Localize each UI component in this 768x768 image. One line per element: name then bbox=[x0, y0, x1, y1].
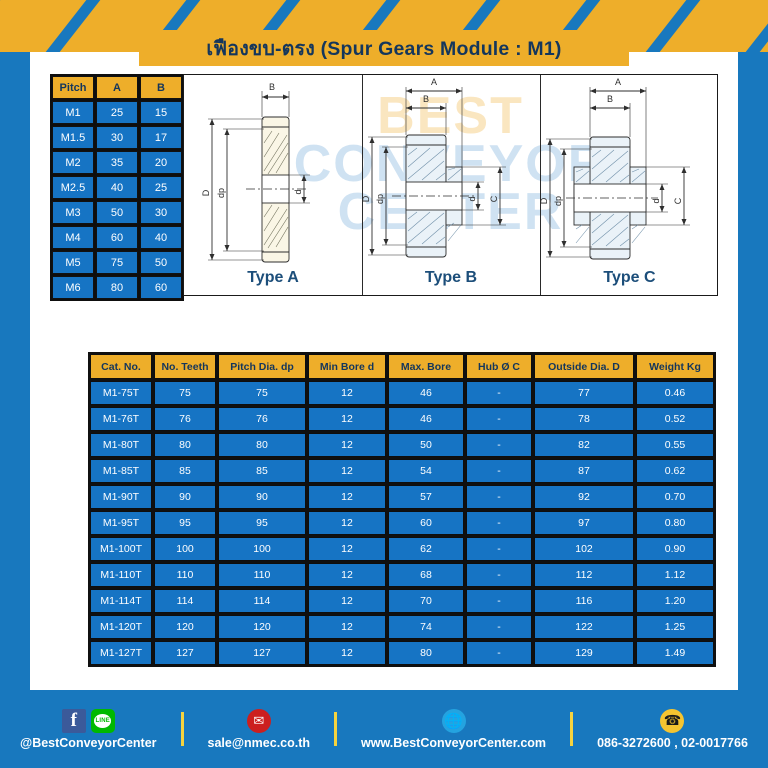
catalog-number-cell: M1-114T bbox=[90, 589, 152, 613]
spec-value-cell: 76 bbox=[154, 407, 216, 431]
spec-table-wrap: Cat. No.No. TeethPitch Dia. dpMin Bore d… bbox=[88, 352, 716, 667]
spec-value-cell: 120 bbox=[218, 615, 306, 639]
spec-value-cell: 82 bbox=[534, 433, 634, 457]
spec-value-cell: 80 bbox=[388, 641, 464, 665]
spec-value-cell: 87 bbox=[534, 459, 634, 483]
pitch-value-cell: 50 bbox=[140, 251, 182, 274]
pitch-header-2: B bbox=[140, 76, 182, 99]
spec-value-cell: 12 bbox=[308, 433, 386, 457]
dim-label-b: B bbox=[423, 94, 429, 104]
pitch-row: M1.53017 bbox=[52, 126, 182, 149]
diagram-type-a: B D dp d Type A bbox=[184, 75, 362, 295]
catalog-number-cell: M1-85T bbox=[90, 459, 152, 483]
pitch-name-cell: M2 bbox=[52, 151, 94, 174]
spec-value-cell: 12 bbox=[308, 589, 386, 613]
spec-value-cell: 1.20 bbox=[636, 589, 714, 613]
spec-value-cell: 116 bbox=[534, 589, 634, 613]
pitch-row: M68060 bbox=[52, 276, 182, 299]
page-title: เฟืองขบ-ตรง (Spur Gears Module : M1) bbox=[206, 33, 561, 64]
spec-value-cell: 74 bbox=[388, 615, 464, 639]
footer-divider-1 bbox=[181, 712, 184, 746]
pitch-header-1: A bbox=[96, 76, 138, 99]
table-row: M1-127T1271271280-1291.49 bbox=[90, 641, 714, 665]
spec-value-cell: 0.62 bbox=[636, 459, 714, 483]
spec-value-cell: 127 bbox=[154, 641, 216, 665]
table-row: M1-76T76761246-780.52 bbox=[90, 407, 714, 431]
catalog-number-cell: M1-76T bbox=[90, 407, 152, 431]
table-row: M1-85T85851254-870.62 bbox=[90, 459, 714, 483]
spec-value-cell: 54 bbox=[388, 459, 464, 483]
pitch-value-cell: 25 bbox=[140, 176, 182, 199]
pitch-table-header-row: PitchAB bbox=[52, 76, 182, 99]
dim-label-bore: d bbox=[293, 189, 303, 194]
spec-value-cell: - bbox=[466, 433, 532, 457]
spec-value-cell: 75 bbox=[154, 381, 216, 405]
table-row: M1-80T80801250-820.55 bbox=[90, 433, 714, 457]
pitch-name-cell: M5 bbox=[52, 251, 94, 274]
pitch-row: M57550 bbox=[52, 251, 182, 274]
pitch-header-0: Pitch bbox=[52, 76, 94, 99]
spec-value-cell: 12 bbox=[308, 485, 386, 509]
dim-label-d-outside: D bbox=[540, 197, 549, 204]
catalog-number-cell: M1-80T bbox=[90, 433, 152, 457]
spec-value-cell: 62 bbox=[388, 537, 464, 561]
spec-header-1: No. Teeth bbox=[154, 354, 216, 379]
spec-value-cell: 12 bbox=[308, 459, 386, 483]
dim-label-bore: d bbox=[467, 196, 477, 201]
table-row: M1-100T1001001262-1020.90 bbox=[90, 537, 714, 561]
pitch-value-cell: 30 bbox=[140, 201, 182, 224]
spec-value-cell: 0.70 bbox=[636, 485, 714, 509]
footer-divider-2 bbox=[334, 712, 337, 746]
spec-value-cell: 50 bbox=[388, 433, 464, 457]
spec-header-4: Max. Bore bbox=[388, 354, 464, 379]
dim-label-a: A bbox=[615, 77, 621, 87]
type-a-label: Type A bbox=[184, 269, 362, 287]
spec-value-cell: 92 bbox=[534, 485, 634, 509]
pitch-value-cell: 40 bbox=[96, 176, 138, 199]
table-row: M1-110T1101101268-1121.12 bbox=[90, 563, 714, 587]
line-icon[interactable]: LINE bbox=[91, 709, 115, 733]
dim-label-b: B bbox=[607, 94, 613, 104]
diagram-divider-1 bbox=[362, 75, 363, 295]
spec-value-cell: 0.52 bbox=[636, 407, 714, 431]
line-badge-label: LINE bbox=[94, 714, 111, 728]
globe-icon[interactable]: 🌐 bbox=[442, 709, 466, 733]
spec-value-cell: 100 bbox=[218, 537, 306, 561]
spec-value-cell: 127 bbox=[218, 641, 306, 665]
pitch-value-cell: 25 bbox=[96, 101, 138, 124]
spec-value-cell: - bbox=[466, 615, 532, 639]
spec-value-cell: 102 bbox=[534, 537, 634, 561]
footer-social[interactable]: f LINE @BestConveyorCenter bbox=[20, 708, 157, 750]
spec-value-cell: 1.49 bbox=[636, 641, 714, 665]
spec-table: Cat. No.No. TeethPitch Dia. dpMin Bore d… bbox=[88, 352, 716, 667]
pitch-name-cell: M1 bbox=[52, 101, 94, 124]
contact-footer: f LINE @BestConveyorCenter ✉ sale@nmec.c… bbox=[0, 690, 768, 768]
spec-value-cell: 12 bbox=[308, 641, 386, 665]
spec-value-cell: 1.12 bbox=[636, 563, 714, 587]
spec-header-6: Outside Dia. D bbox=[534, 354, 634, 379]
table-row: M1-95T95951260-970.80 bbox=[90, 511, 714, 535]
table-row: M1-75T75751246-770.46 bbox=[90, 381, 714, 405]
dim-label-dp: dp bbox=[375, 194, 385, 204]
spec-value-cell: - bbox=[466, 589, 532, 613]
spec-value-cell: 85 bbox=[218, 459, 306, 483]
spec-value-cell: 95 bbox=[154, 511, 216, 535]
pitch-value-cell: 50 bbox=[96, 201, 138, 224]
dim-label-dp: dp bbox=[553, 196, 563, 206]
website-url[interactable]: www.BestConveyorCenter.com bbox=[361, 736, 546, 750]
spec-value-cell: 97 bbox=[534, 511, 634, 535]
spec-value-cell: 110 bbox=[218, 563, 306, 587]
spec-value-cell: 12 bbox=[308, 537, 386, 561]
spec-value-cell: 0.80 bbox=[636, 511, 714, 535]
spec-header-7: Weight Kg bbox=[636, 354, 714, 379]
spec-value-cell: 75 bbox=[218, 381, 306, 405]
catalog-number-cell: M1-100T bbox=[90, 537, 152, 561]
spec-value-cell: 60 bbox=[388, 511, 464, 535]
spec-value-cell: 0.46 bbox=[636, 381, 714, 405]
spec-value-cell: - bbox=[466, 563, 532, 587]
dim-label-a: A bbox=[431, 77, 437, 87]
spec-table-header-row: Cat. No.No. TeethPitch Dia. dpMin Bore d… bbox=[90, 354, 714, 379]
type-c-label: Type C bbox=[540, 269, 718, 287]
catalog-number-cell: M1-127T bbox=[90, 641, 152, 665]
dim-label-d-outside: D bbox=[362, 195, 371, 202]
spec-value-cell: 78 bbox=[534, 407, 634, 431]
type-b-label: Type B bbox=[362, 269, 540, 287]
spec-value-cell: 57 bbox=[388, 485, 464, 509]
spec-value-cell: 80 bbox=[218, 433, 306, 457]
spec-value-cell: 120 bbox=[154, 615, 216, 639]
spec-value-cell: 46 bbox=[388, 407, 464, 431]
spec-value-cell: 12 bbox=[308, 511, 386, 535]
pitch-value-cell: 17 bbox=[140, 126, 182, 149]
catalog-number-cell: M1-90T bbox=[90, 485, 152, 509]
spec-value-cell: 80 bbox=[154, 433, 216, 457]
type-a-drawing: B D dp d bbox=[184, 75, 362, 275]
type-b-drawing: A B D dp d C bbox=[362, 75, 540, 275]
pitch-row: M46040 bbox=[52, 226, 182, 249]
page-title-banner: เฟืองขบ-ตรง (Spur Gears Module : M1) bbox=[139, 30, 629, 66]
dim-label-hub-c: C bbox=[489, 195, 499, 202]
table-row: M1-90T90901257-920.70 bbox=[90, 485, 714, 509]
spec-value-cell: 0.55 bbox=[636, 433, 714, 457]
spec-value-cell: 0.90 bbox=[636, 537, 714, 561]
pitch-row: M35030 bbox=[52, 201, 182, 224]
catalog-number-cell: M1-110T bbox=[90, 563, 152, 587]
spec-value-cell: - bbox=[466, 381, 532, 405]
spec-header-0: Cat. No. bbox=[90, 354, 152, 379]
spec-value-cell: 114 bbox=[154, 589, 216, 613]
gear-type-diagram-panel: BEST CONVEYOR CENTER bbox=[183, 74, 718, 296]
spec-value-cell: 12 bbox=[308, 381, 386, 405]
catalog-number-cell: M1-95T bbox=[90, 511, 152, 535]
spec-value-cell: 114 bbox=[218, 589, 306, 613]
pitch-name-cell: M3 bbox=[52, 201, 94, 224]
pitch-value-cell: 35 bbox=[96, 151, 138, 174]
pitch-value-cell: 30 bbox=[96, 126, 138, 149]
email-icon[interactable]: ✉ bbox=[247, 709, 271, 733]
catalog-number-cell: M1-120T bbox=[90, 615, 152, 639]
dim-label-b: B bbox=[269, 82, 275, 92]
diagram-type-c: A B D dp d C Type C bbox=[540, 75, 718, 295]
pitch-table: PitchAB M12515M1.53017M23520M2.54025M350… bbox=[50, 74, 184, 301]
spec-value-cell: 85 bbox=[154, 459, 216, 483]
spec-value-cell: 77 bbox=[534, 381, 634, 405]
table-row: M1-114T1141141270-1161.20 bbox=[90, 589, 714, 613]
spec-value-cell: 12 bbox=[308, 407, 386, 431]
footer-phone[interactable]: ☎ 086-3272600 , 02-0017766 bbox=[597, 708, 748, 750]
spec-value-cell: - bbox=[466, 459, 532, 483]
diagram-type-b: A B D dp d C Type B bbox=[362, 75, 540, 295]
pitch-name-cell: M6 bbox=[52, 276, 94, 299]
spec-header-3: Min Bore d bbox=[308, 354, 386, 379]
spec-value-cell: - bbox=[466, 407, 532, 431]
pitch-row: M2.54025 bbox=[52, 176, 182, 199]
pitch-value-cell: 15 bbox=[140, 101, 182, 124]
spec-header-2: Pitch Dia. dp bbox=[218, 354, 306, 379]
spec-value-cell: 76 bbox=[218, 407, 306, 431]
pitch-name-cell: M1.5 bbox=[52, 126, 94, 149]
dim-label-bore: d bbox=[651, 198, 661, 203]
type-c-drawing: A B D dp d C bbox=[540, 75, 718, 275]
spec-value-cell: - bbox=[466, 537, 532, 561]
spec-header-5: Hub Ø C bbox=[466, 354, 532, 379]
pitch-value-cell: 40 bbox=[140, 226, 182, 249]
catalog-number-cell: M1-75T bbox=[90, 381, 152, 405]
facebook-icon[interactable]: f bbox=[62, 709, 86, 733]
footer-divider-3 bbox=[570, 712, 573, 746]
table-row: M1-120T1201201274-1221.25 bbox=[90, 615, 714, 639]
footer-email[interactable]: ✉ sale@nmec.co.th bbox=[208, 708, 311, 750]
pitch-value-cell: 75 bbox=[96, 251, 138, 274]
pitch-value-cell: 60 bbox=[140, 276, 182, 299]
spec-value-cell: 12 bbox=[308, 563, 386, 587]
spec-value-cell: 90 bbox=[154, 485, 216, 509]
spec-value-cell: 129 bbox=[534, 641, 634, 665]
spec-value-cell: - bbox=[466, 511, 532, 535]
spec-value-cell: 100 bbox=[154, 537, 216, 561]
footer-website[interactable]: 🌐 www.BestConveyorCenter.com bbox=[361, 708, 546, 750]
spec-value-cell: 90 bbox=[218, 485, 306, 509]
dim-label-d-outside: D bbox=[201, 189, 211, 196]
pitch-row: M12515 bbox=[52, 101, 182, 124]
pitch-row: M23520 bbox=[52, 151, 182, 174]
spec-value-cell: - bbox=[466, 485, 532, 509]
spec-value-cell: 112 bbox=[534, 563, 634, 587]
spec-value-cell: 68 bbox=[388, 563, 464, 587]
email-address[interactable]: sale@nmec.co.th bbox=[208, 736, 311, 750]
phone-icon[interactable]: ☎ bbox=[660, 709, 684, 733]
pitch-name-cell: M2.5 bbox=[52, 176, 94, 199]
pitch-value-cell: 60 bbox=[96, 226, 138, 249]
spec-value-cell: 12 bbox=[308, 615, 386, 639]
spec-value-cell: 122 bbox=[534, 615, 634, 639]
dim-label-hub-c: C bbox=[673, 197, 683, 204]
spec-value-cell: 70 bbox=[388, 589, 464, 613]
social-handle[interactable]: @BestConveyorCenter bbox=[20, 736, 157, 750]
spec-value-cell: 1.25 bbox=[636, 615, 714, 639]
diagram-divider-2 bbox=[540, 75, 541, 295]
spec-value-cell: 110 bbox=[154, 563, 216, 587]
spec-value-cell: 95 bbox=[218, 511, 306, 535]
spec-value-cell: - bbox=[466, 641, 532, 665]
pitch-name-cell: M4 bbox=[52, 226, 94, 249]
spec-value-cell: 46 bbox=[388, 381, 464, 405]
pitch-value-cell: 20 bbox=[140, 151, 182, 174]
pitch-value-cell: 80 bbox=[96, 276, 138, 299]
dim-label-dp: dp bbox=[216, 188, 226, 198]
phone-numbers[interactable]: 086-3272600 , 02-0017766 bbox=[597, 736, 748, 750]
